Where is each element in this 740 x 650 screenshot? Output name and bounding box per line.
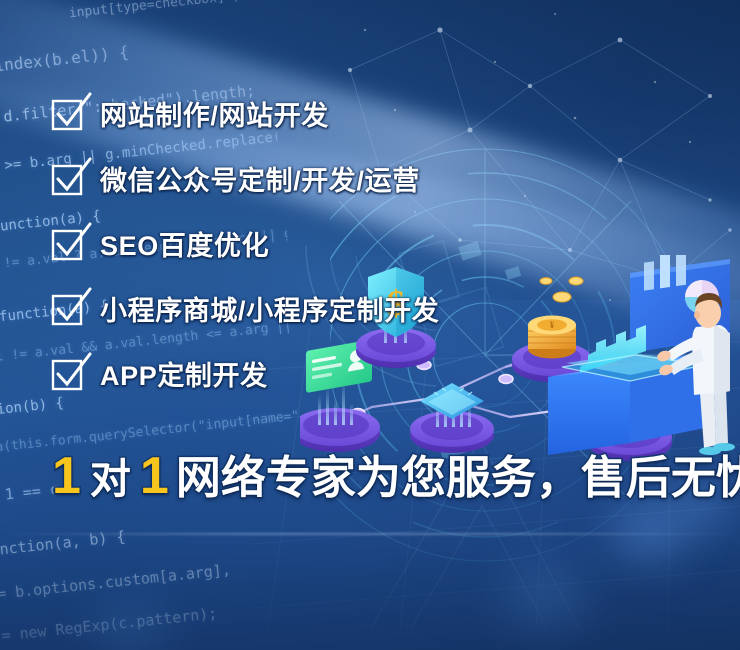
list-item-label: 微信公众号定制/开发/运营 <box>100 159 420 198</box>
checkbox-checked-icon[interactable] <box>52 358 82 388</box>
list-item[interactable]: APP定制开发 <box>52 356 712 390</box>
service-promo-banner: input[type=checkbox]", ... = d.index(b.e… <box>0 0 740 650</box>
checkbox-checked-icon[interactable] <box>52 98 82 128</box>
list-item-label: 网站制作/网站开发 <box>100 94 329 133</box>
service-feature-list: 网站制作/网站开发 微信公众号定制/开发/运营 SEO百度优化 <box>52 96 712 421</box>
list-item-label: 小程序商城/小程序定制开发 <box>100 289 439 328</box>
promo-headline: 1 对 1 网络专家为您服务，售后无忧！ <box>52 450 740 502</box>
background-glow-blob <box>470 560 620 630</box>
list-item[interactable]: 小程序商城/小程序定制开发 <box>52 291 712 325</box>
headline-number-second: 1 <box>140 450 169 502</box>
checkbox-checked-icon[interactable] <box>52 293 82 323</box>
list-item[interactable]: 微信公众号定制/开发/运营 <box>52 161 712 195</box>
checkbox-checked-icon[interactable] <box>52 228 82 258</box>
headline-number-first: 1 <box>52 450 81 502</box>
checkbox-checked-icon[interactable] <box>52 163 82 193</box>
list-item-label: SEO百度优化 <box>100 224 269 263</box>
list-item[interactable]: 网站制作/网站开发 <box>52 96 712 130</box>
list-item[interactable]: SEO百度优化 <box>52 226 712 260</box>
list-item-label: APP定制开发 <box>100 354 268 393</box>
headline-word-mid: 对 <box>90 459 131 500</box>
headline-main-text: 网络专家为您服务，售后无忧！ <box>176 455 740 500</box>
